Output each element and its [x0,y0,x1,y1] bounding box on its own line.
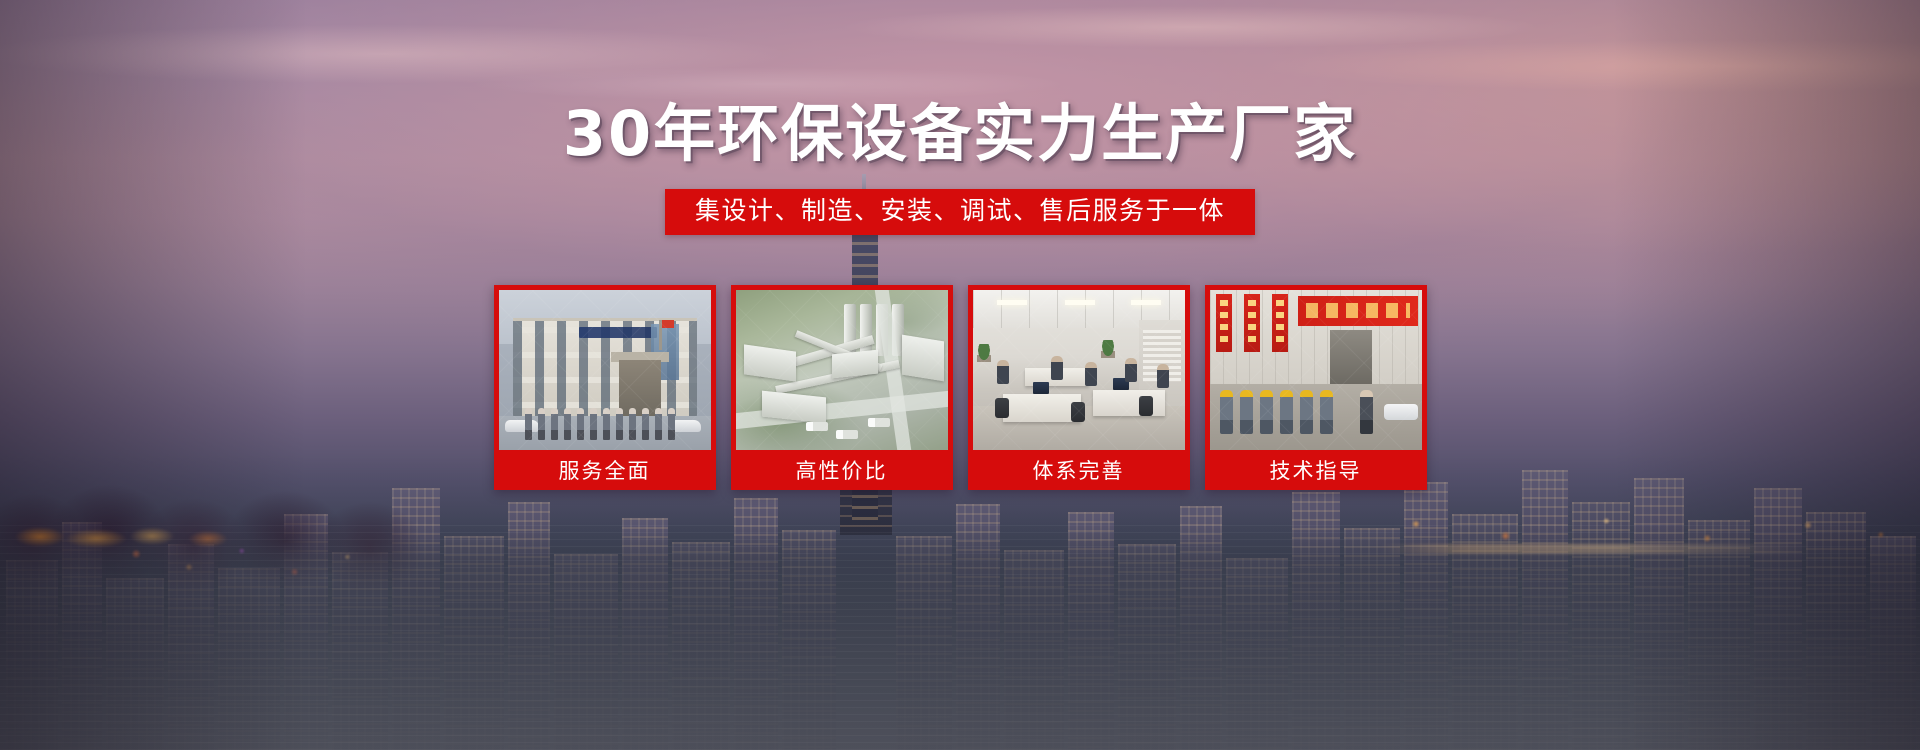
card-label-service: 服务全面 [499,450,711,490]
workshop-banner [1298,296,1418,326]
feature-card-system[interactable]: 体系完善 [968,285,1190,490]
card-photo-workshop [1210,290,1422,450]
hero-subtitle-bar: 集设计、制造、安装、调试、售后服务于一体 [665,189,1255,235]
card-label-guidance: 技术指导 [1210,450,1422,490]
card-photo-plant-aerial [736,290,948,450]
card-label-system: 体系完善 [973,450,1185,490]
feature-card-list: 服务全面 [494,285,1427,490]
card-photo-office-building [499,290,711,450]
staff-row [525,402,685,440]
feature-card-value[interactable]: 高性价比 [731,285,953,490]
card-photo-office-room [973,290,1185,450]
feature-card-guidance[interactable]: 技术指导 [1205,285,1427,490]
page-title: 30年环保设备实力生产厂家 [563,103,1357,165]
feature-card-service[interactable]: 服务全面 [494,285,716,490]
hero-banner: 30年环保设备实力生产厂家 集设计、制造、安装、调试、售后服务于一体 [0,0,1920,750]
building-signage [579,327,657,338]
card-label-value: 高性价比 [736,450,948,490]
